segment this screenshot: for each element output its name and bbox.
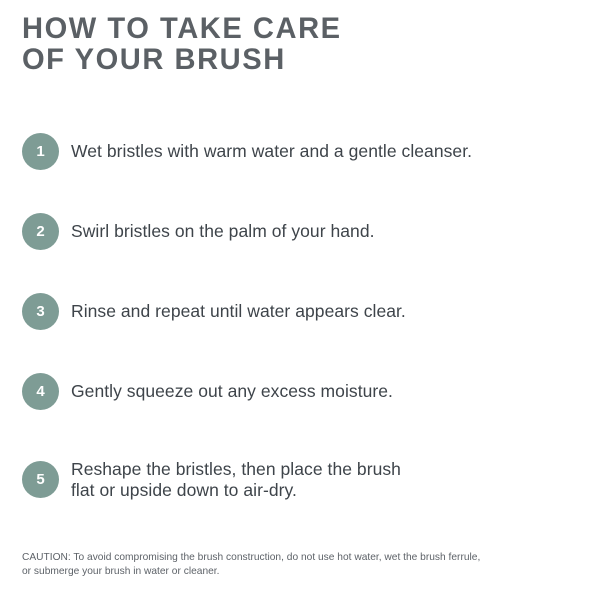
step-text-5: Reshape the bristles, then place the bru… [71,459,571,501]
page-title-line-2: OF YOUR BRUSH [22,44,546,75]
step-text-1: Wet bristles with warm water and a gentl… [71,141,571,162]
list-item: 5 Reshape the bristles, then place the b… [22,461,578,499]
step-number-badge-3: 3 [22,293,59,330]
caution-note: CAUTION: To avoid compromising the brush… [22,551,578,579]
step-text-2: Swirl bristles on the palm of your hand. [71,221,571,242]
list-item: 4 Gently squeeze out any excess moisture… [22,373,578,411]
list-item: 3 Rinse and repeat until water appears c… [22,293,578,331]
step-text-3: Rinse and repeat until water appears cle… [71,301,571,322]
step-number-badge-5: 5 [22,461,59,498]
page-title: HOW TO TAKE CARE OF YOUR BRUSH [22,13,546,75]
step-number-badge-2: 2 [22,213,59,250]
step-number-badge-1: 1 [22,133,59,170]
page-title-line-1: HOW TO TAKE CARE [22,13,546,44]
brush-care-instruction-card: HOW TO TAKE CARE OF YOUR BRUSH 1 Wet bri… [0,0,600,600]
list-item: 2 Swirl bristles on the palm of your han… [22,213,578,251]
step-text-4: Gently squeeze out any excess moisture. [71,381,571,402]
step-number-badge-4: 4 [22,373,59,410]
list-item: 1 Wet bristles with warm water and a gen… [22,133,578,171]
